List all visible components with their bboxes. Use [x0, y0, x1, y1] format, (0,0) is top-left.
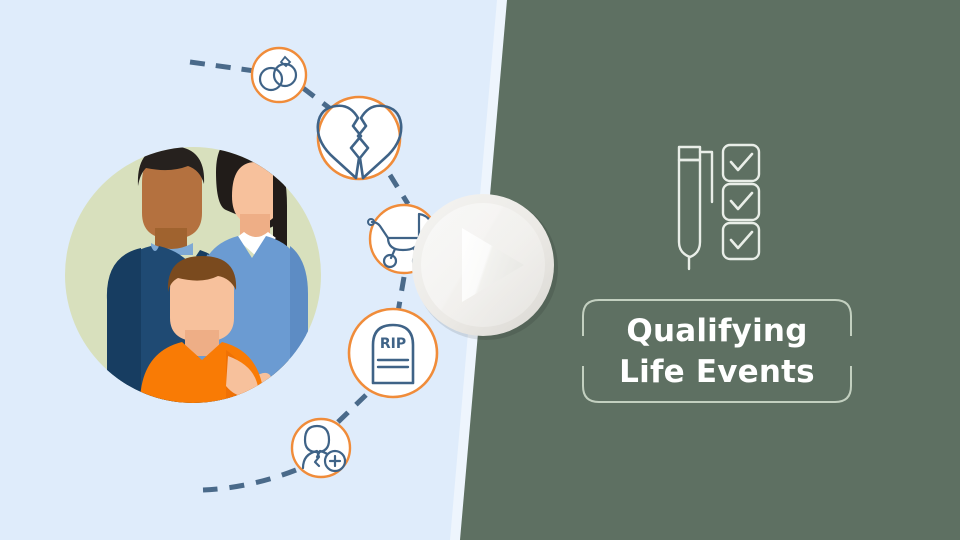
video-frame: RIP: [0, 0, 960, 540]
play-button[interactable]: [0, 0, 960, 540]
